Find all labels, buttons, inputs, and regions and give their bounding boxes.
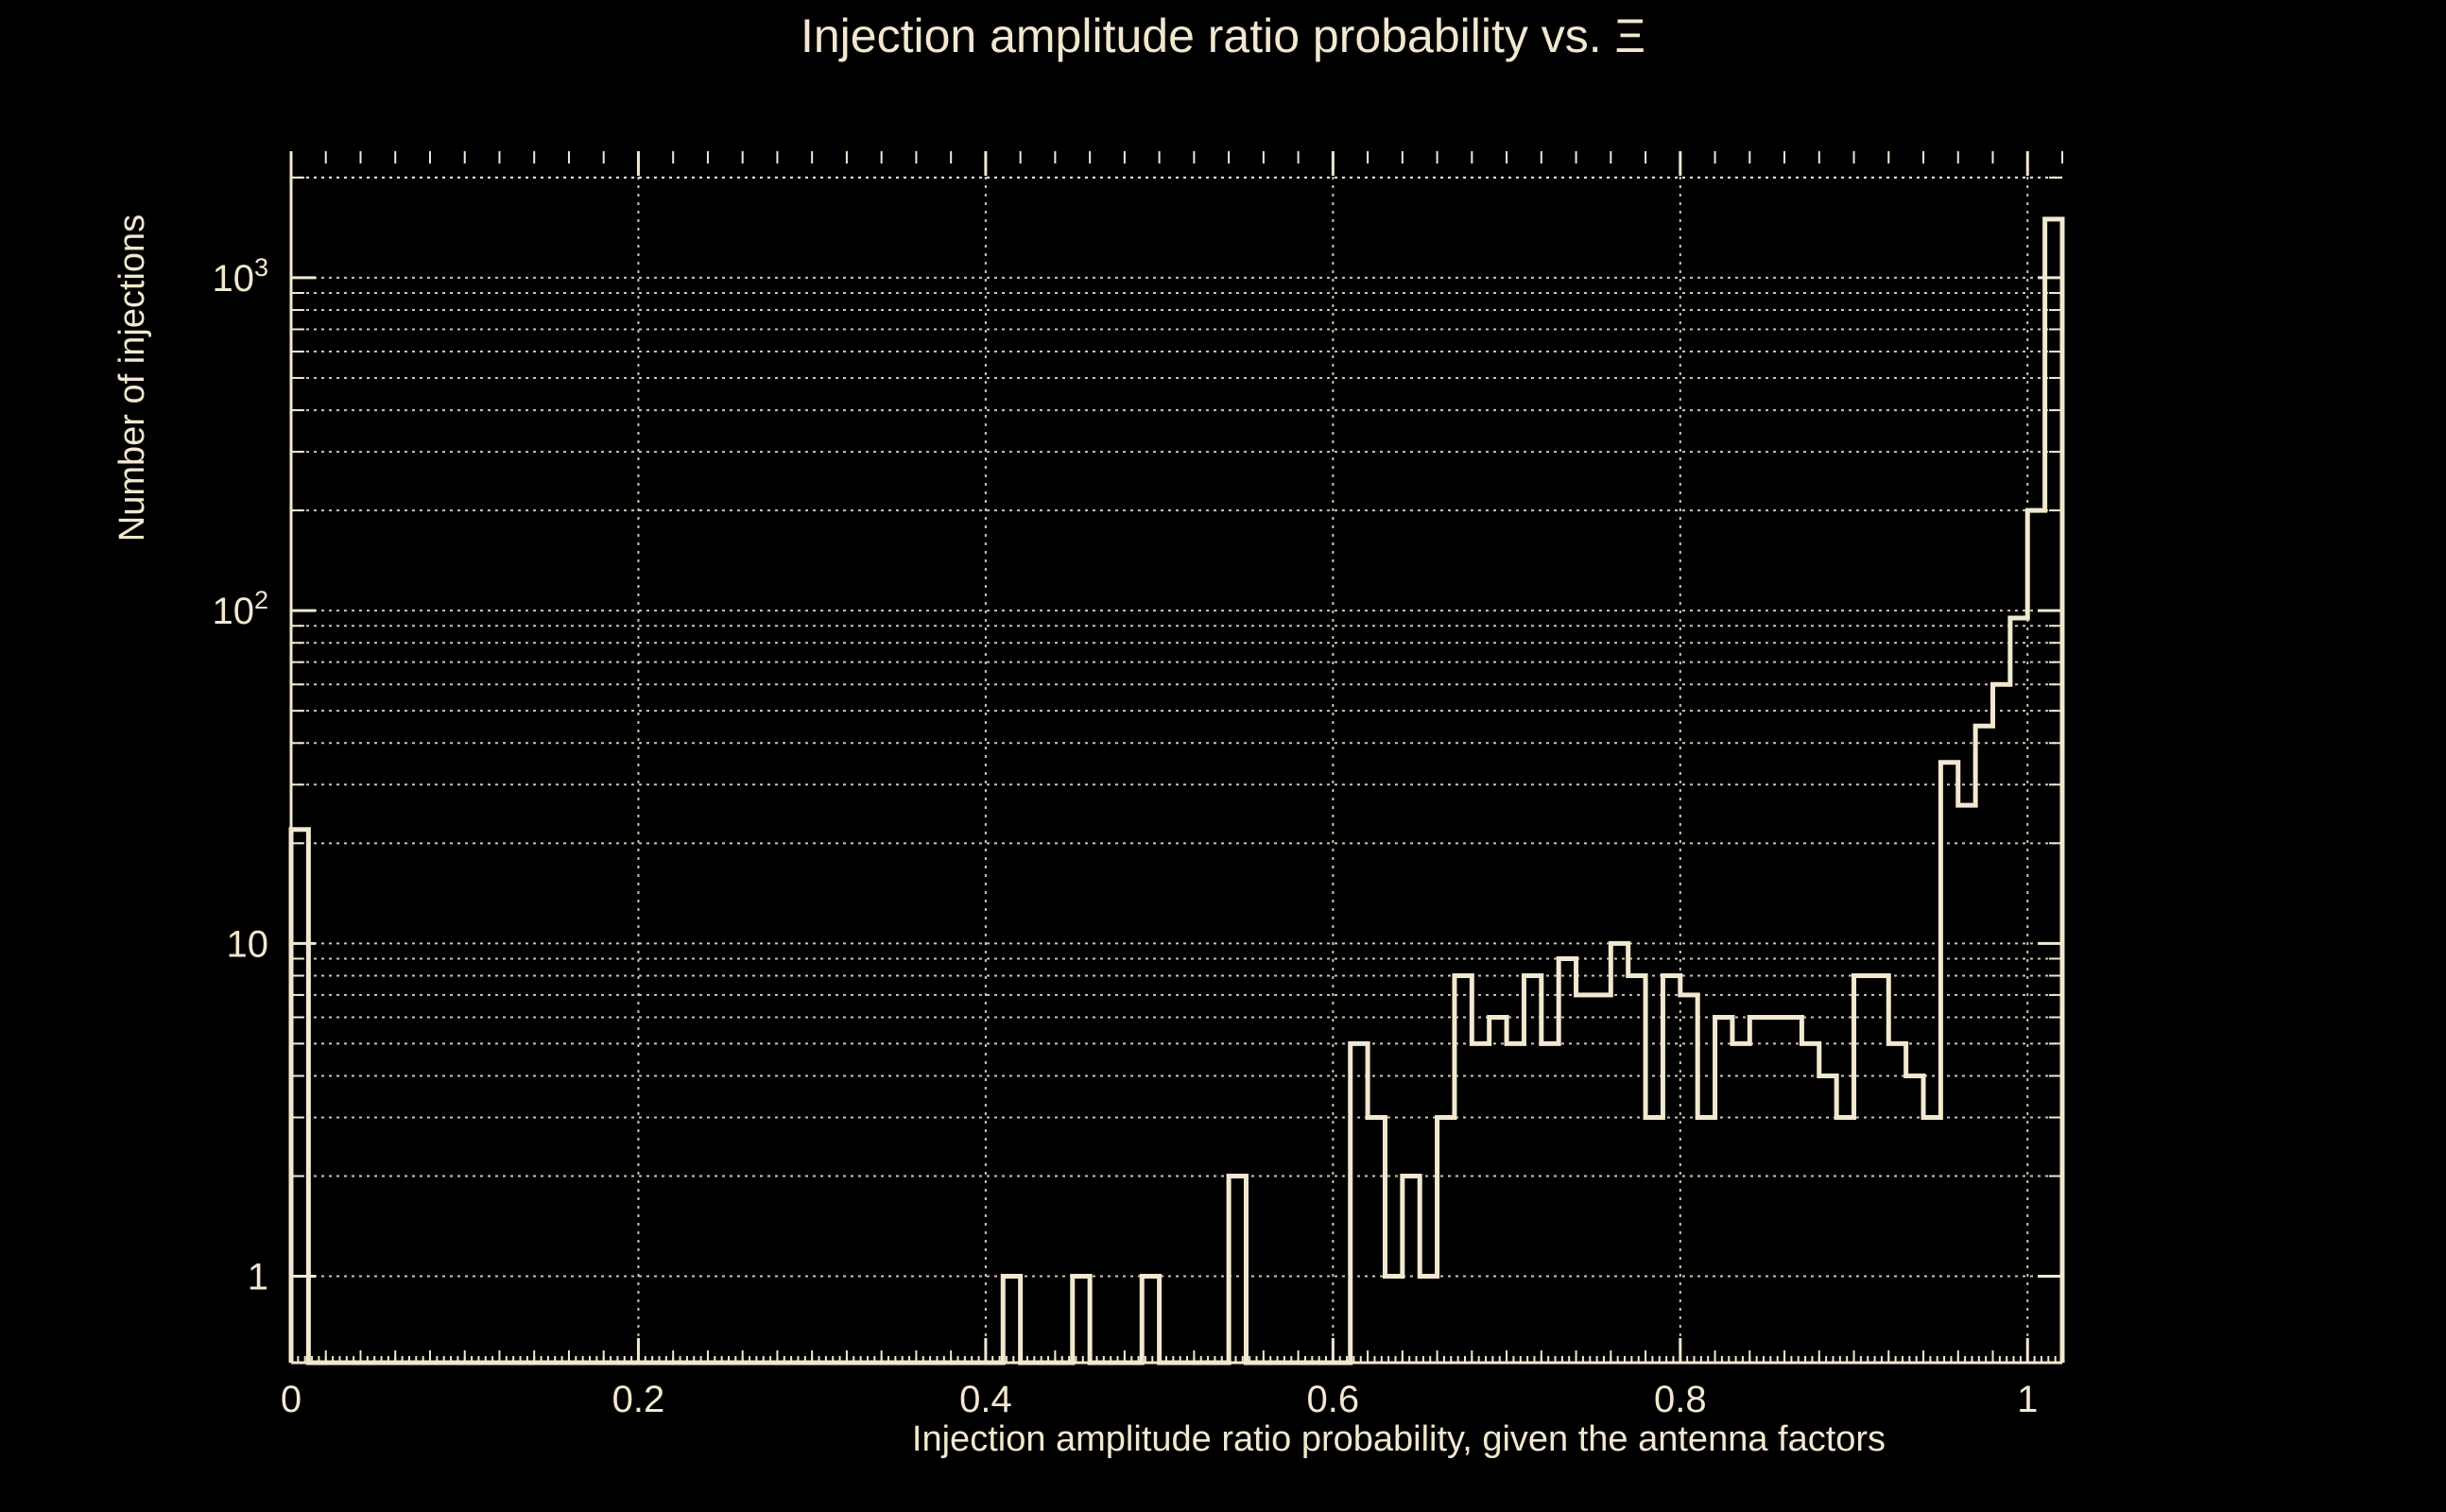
x-axis-title: Injection amplitude ratio probability, g…	[912, 1419, 1886, 1459]
x-tick-label: 0.2	[612, 1379, 665, 1420]
x-tick-label: 1	[2017, 1379, 2038, 1420]
x-tick-label: 0.6	[1307, 1379, 1360, 1420]
x-tick-label: 0.4	[959, 1379, 1012, 1420]
plot-title: Injection amplitude ratio probability vs…	[801, 9, 1645, 62]
figure-background	[0, 0, 2446, 1512]
y-tick-label: 10	[227, 923, 269, 965]
y-axis-title: Number of injections	[112, 215, 152, 541]
x-tick-label: 0	[281, 1379, 301, 1420]
y-tick-label: 1	[248, 1257, 268, 1298]
histogram-figure: 110102103 00.20.40.60.81 Injection ampli…	[0, 0, 2446, 1512]
plot-canvas: 110102103 00.20.40.60.81 Injection ampli…	[0, 0, 2446, 1512]
x-tick-label: 0.8	[1654, 1379, 1707, 1420]
